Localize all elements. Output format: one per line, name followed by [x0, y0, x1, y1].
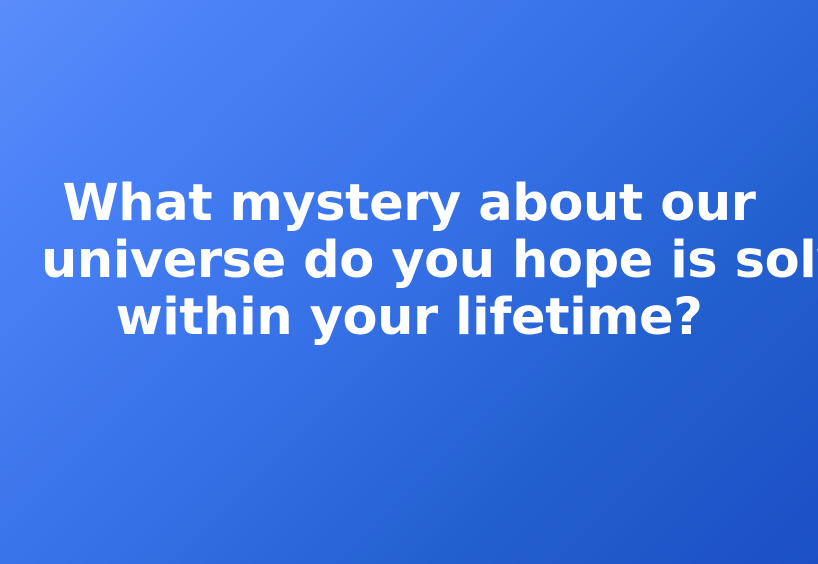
- quote-card: What mystery about our universe do you h…: [0, 0, 818, 564]
- quote-text-block: What mystery about our universe do you h…: [29, 175, 789, 346]
- quote-line-3: within your lifetime?: [41, 289, 777, 346]
- quote-line-2: universe do you hope is solved: [41, 232, 777, 289]
- quote-line-1: What mystery about our: [41, 175, 777, 232]
